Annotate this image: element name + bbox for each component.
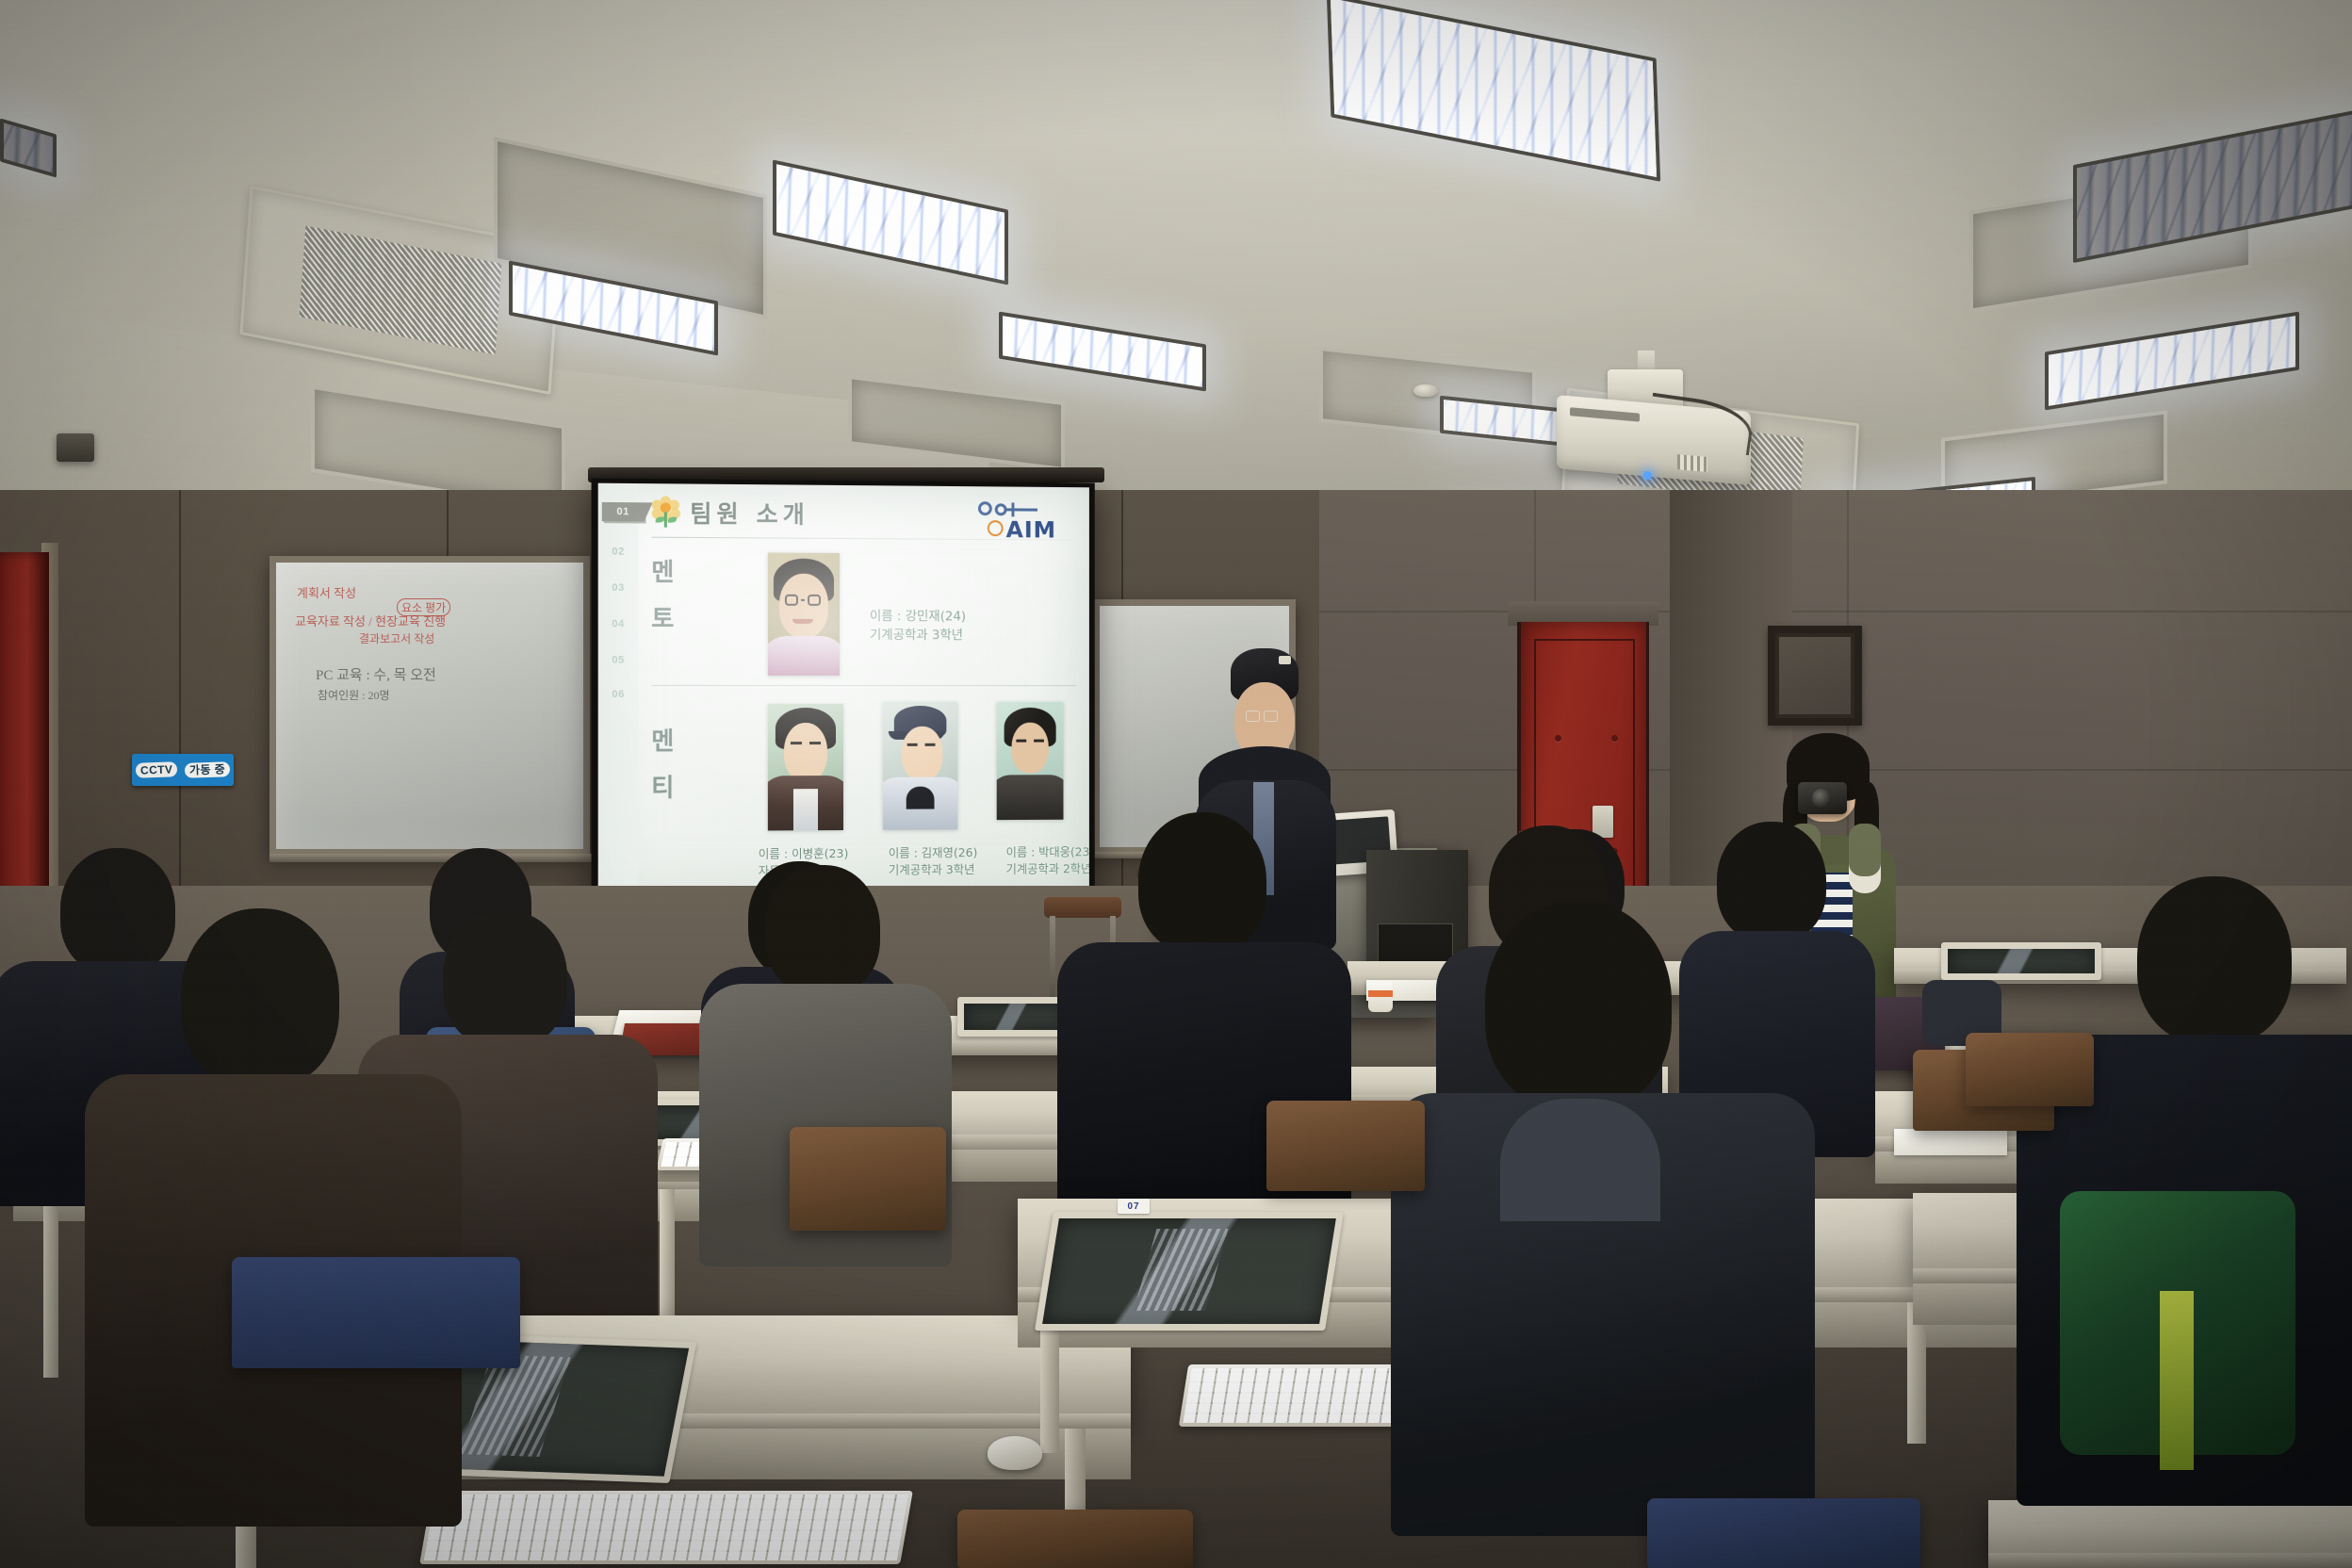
slide-nav-item-06[interactable]: 06 [605,685,631,704]
projection-screen: 01 02 03 04 05 06 팀원 소개 [592,479,1095,912]
presentation-slide: 01 02 03 04 05 06 팀원 소개 [598,483,1089,906]
mentee-2-dept-line: 기계공학과 3학년 [889,861,975,879]
mentee-2-name-line: 이름 : 김재영(26) [889,844,977,862]
aim-logo-text: AIM [1006,516,1056,543]
student-chair[interactable] [232,1257,520,1368]
mentor-photo [768,553,840,676]
student-chair[interactable] [1647,1498,1920,1568]
desk-mouse[interactable] [988,1436,1042,1470]
whiteboard-black-line-2: 참여인원 : 20명 [318,687,390,703]
student-chair[interactable] [1266,1101,1425,1191]
slide-header: 팀원 소개 [652,495,809,530]
slide-nav-item-03[interactable]: 03 [605,579,631,597]
mentor-dept-line: 기계공학과 3학년 [870,627,963,645]
mentee-3-dept-line: 기계공학과 2학년 [1006,860,1089,878]
mentee-photo-3 [997,702,1064,820]
slide-title: 팀원 소개 [690,496,809,531]
desk-keyboard[interactable] [419,1491,913,1564]
mentee-3-name-line: 이름 : 박대웅(23) [1006,843,1089,861]
whiteboard-red-line-1: 계획서 작성 [297,583,356,601]
glasses-icon [1246,710,1278,721]
paper-cup[interactable] [1368,982,1393,1012]
smoke-detector-icon [1413,384,1438,397]
aim-logo: AIM [978,501,1082,541]
mentee-photo-2 [883,702,957,830]
cctv-badge-label: CCTV [136,761,178,778]
desk-embedded-monitor [1035,1212,1344,1331]
cctv-status-label: 가동 중 [184,761,230,778]
desk-number-tag: 07 [1118,1199,1150,1214]
whiteboard-marker-tray [269,854,594,862]
slide-nav-item-04[interactable]: 04 [605,614,631,633]
projector-power-led [1643,471,1652,480]
mentor-name-line: 이름 : 강민재(24) [870,608,966,627]
whiteboard-red-line-3: 교육자료 작성 / 현장교육 진행 [295,612,446,629]
desk-leg [43,1189,58,1378]
mentee-1-name-line: 이름 : 이병훈(23) [759,845,849,863]
flower-icon [652,496,680,528]
whiteboard-red-line-4: 결과보고서 작성 [359,630,434,646]
whiteboard-left: 계획서 작성 요소 평가 교육자료 작성 / 현장교육 진행 결과보고서 작성 … [269,556,590,856]
student-chair[interactable] [957,1510,1193,1568]
slide-nav-item-05[interactable]: 05 [605,651,631,670]
classroom-photo-scene: 계획서 작성 요소 평가 교육자료 작성 / 현장교육 진행 결과보고서 작성 … [0,0,2352,1568]
mentor-row-label: 멘 토 [645,550,683,645]
student-chair[interactable] [790,1127,946,1231]
desk-paper[interactable] [1894,1129,2007,1155]
mentee-photo-1 [768,704,843,830]
wall-picture-frame [1768,626,1862,726]
desk-embedded-monitor [1941,942,2101,980]
student-chair[interactable] [1966,1033,2094,1106]
compact-camera [1798,782,1847,814]
ceiling-speaker-icon [57,433,94,462]
cctv-notice-sign: CCTV 가동 중 [132,754,234,786]
whiteboard-black-line-1: PC 교육 : 수, 목 오전 [316,664,436,684]
student-desk [1988,1500,2352,1568]
slide-nav-item-01[interactable]: 01 [602,502,645,522]
slide-nav-item-02[interactable]: 02 [605,542,631,561]
slide-row-divider [652,685,1077,686]
mentee-row-label: 멘 티 [645,719,683,813]
